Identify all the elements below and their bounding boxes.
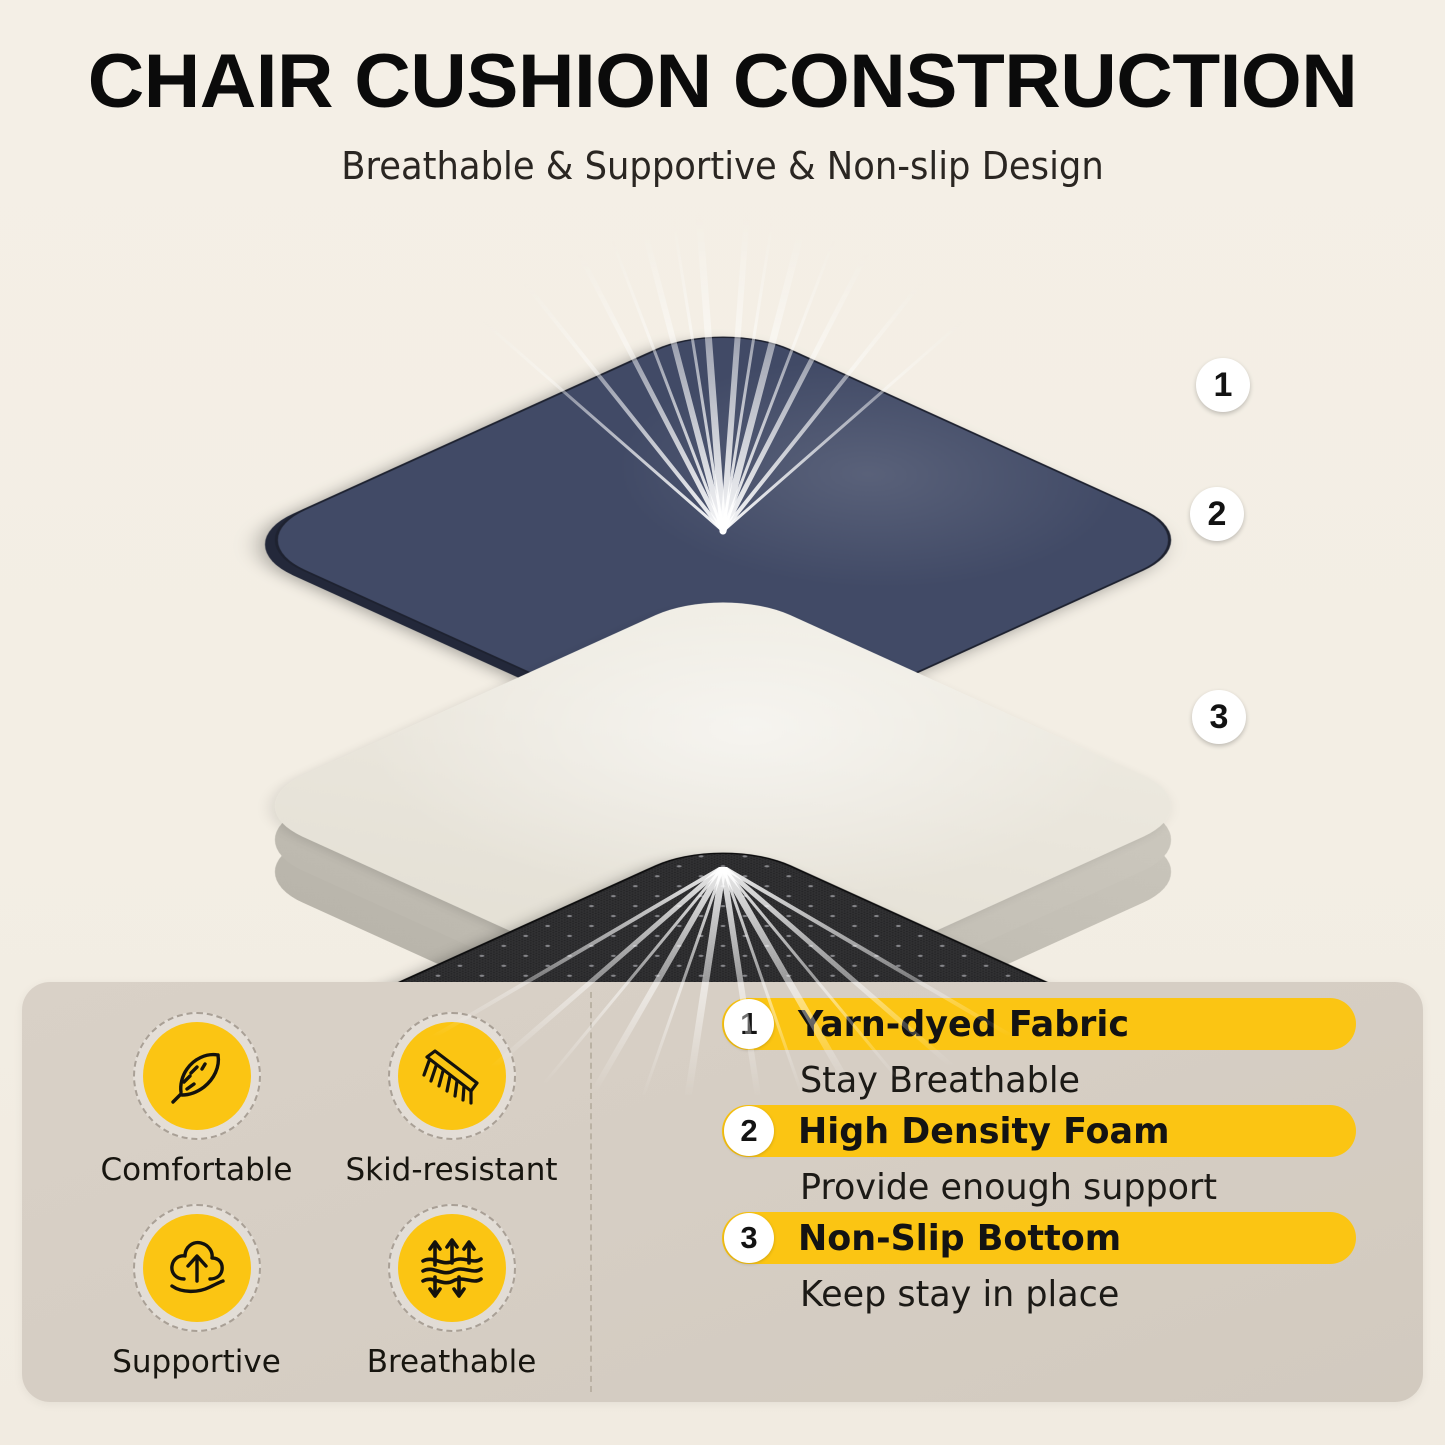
- layer-callout-1: 1: [1196, 358, 1250, 412]
- feature-description: Stay Breathable: [800, 1060, 1394, 1101]
- numbered-feature-list: 1 Yarn-dyed Fabric Stay Breathable 2 Hig…: [722, 998, 1412, 1319]
- page-title: CHAIR CUSHION CONSTRUCTION: [0, 44, 1445, 120]
- airflow-arrows-icon: [398, 1214, 506, 1322]
- feature-label: Comfortable: [101, 1152, 293, 1188]
- feature-breathable[interactable]: Breathable: [329, 1196, 574, 1384]
- feature-item-3[interactable]: 3 Non-Slip Bottom Keep stay in place: [722, 1212, 1412, 1315]
- vertical-dashed-divider: [590, 992, 592, 1392]
- layer-callout-2: 2: [1190, 487, 1244, 541]
- feature-dashed-ring: [388, 1204, 516, 1332]
- features-icon-grid: Comfortable: [74, 1004, 574, 1384]
- feature-pill-1[interactable]: 1 Yarn-dyed Fabric: [722, 998, 1356, 1050]
- feature-number-badge: 3: [724, 1213, 774, 1263]
- page-subtitle: Breathable & Supportive & Non-slip Desig…: [51, 144, 1395, 188]
- feature-skid-resistant[interactable]: Skid-resistant: [329, 1004, 574, 1192]
- feature-supportive[interactable]: Supportive: [74, 1196, 319, 1384]
- feature-description: Keep stay in place: [800, 1274, 1394, 1315]
- feature-pill-3[interactable]: 3 Non-Slip Bottom: [722, 1212, 1356, 1264]
- brush-bristles-icon: [398, 1022, 506, 1130]
- feature-dashed-ring: [388, 1012, 516, 1140]
- cloud-up-arrow-icon: [143, 1214, 251, 1322]
- feature-number-badge: 1: [724, 999, 774, 1049]
- feature-item-2[interactable]: 2 High Density Foam Provide enough suppo…: [722, 1105, 1412, 1208]
- feature-number-badge: 2: [724, 1106, 774, 1156]
- layer-callout-3: 3: [1192, 690, 1246, 744]
- feature-title: High Density Foam: [798, 1111, 1169, 1152]
- feature-title: Non-Slip Bottom: [798, 1218, 1121, 1259]
- product-layer-stack: [0, 195, 1445, 985]
- feature-dashed-ring: [133, 1204, 261, 1332]
- feature-description: Provide enough support: [800, 1167, 1394, 1208]
- feature-comfortable[interactable]: Comfortable: [74, 1004, 319, 1192]
- infographic-page: CHAIR CUSHION CONSTRUCTION Breathable & …: [0, 0, 1445, 1445]
- features-card: Comfortable: [22, 982, 1423, 1402]
- feature-item-1[interactable]: 1 Yarn-dyed Fabric Stay Breathable: [722, 998, 1412, 1101]
- feature-title: Yarn-dyed Fabric: [798, 1004, 1129, 1045]
- feather-icon: [143, 1022, 251, 1130]
- feature-label: Skid-resistant: [345, 1152, 557, 1188]
- feature-dashed-ring: [133, 1012, 261, 1140]
- header: CHAIR CUSHION CONSTRUCTION Breathable & …: [0, 44, 1445, 188]
- feature-label: Supportive: [112, 1344, 281, 1380]
- feature-pill-2[interactable]: 2 High Density Foam: [722, 1105, 1356, 1157]
- feature-label: Breathable: [367, 1344, 537, 1380]
